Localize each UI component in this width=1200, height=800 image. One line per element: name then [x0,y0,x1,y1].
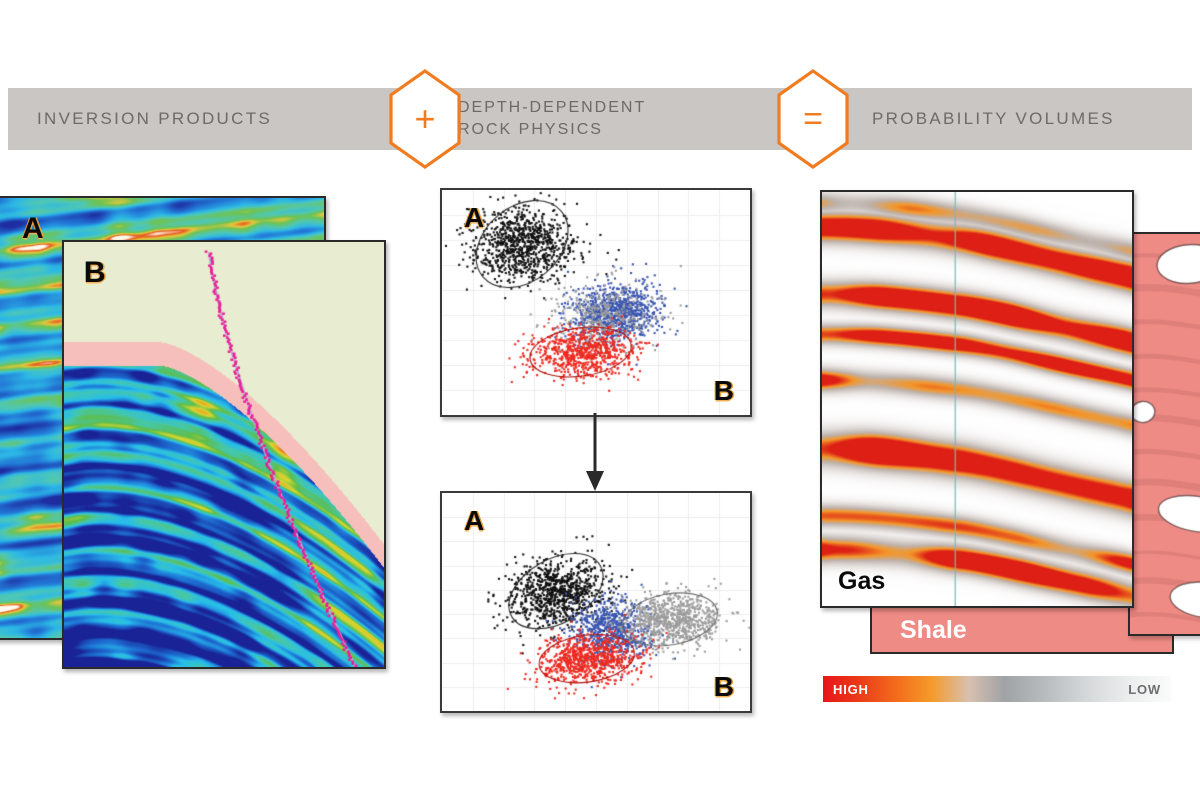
plus-glyph: + [388,69,462,169]
header-label-inversion-products: INVERSION PRODUCTS [8,108,272,131]
colorbar-label-low: LOW [1128,682,1171,697]
equals-glyph: = [776,69,850,169]
seismic-section-panel-b: B [62,240,386,669]
header-label-probability-volumes: PROBABILITY VOLUMES [822,108,1115,131]
shale-probability-map [1130,234,1200,634]
crossplot-top-axis-label-a: A [464,204,484,232]
shale-probability-panel [1128,232,1200,636]
crossplot-panel-top: A B [440,188,752,417]
probability-colorbar: HIGH LOW [823,676,1171,702]
crossplot-panel-bottom: A B [440,491,752,713]
crossplot-scatter-top [442,190,750,415]
crossplot-bottom-axis-label-b: B [714,673,734,701]
header-segment-inversion-products: INVERSION PRODUCTS [8,88,422,150]
equals-hexagon-icon: = [776,69,850,169]
seismic-colormap-b [64,242,384,667]
header-segment-probability-volumes: PROBABILITY VOLUMES [822,88,1192,150]
workflow-header-banner: INVERSION PRODUCTS DEPTH-DEPENDENT ROCK … [8,88,1192,150]
plus-hexagon-icon: + [388,69,462,169]
down-arrow-icon [583,413,607,493]
seismic-panel-label-a: A [22,214,44,244]
probability-volumes-figure: Shale Gas [815,190,1200,710]
probability-panel-label-gas: Gas [838,569,885,594]
gas-probability-map [822,192,1132,606]
crossplot-bottom-axis-label-a: A [464,507,484,535]
gas-probability-panel: Gas [820,190,1134,608]
rock-physics-crossplots: A B A B [430,188,760,713]
header-segment-rock-physics: DEPTH-DEPENDENT ROCK PHYSICS [432,88,812,150]
crossplot-top-axis-label-b: B [714,377,734,405]
crossplot-scatter-bottom [442,493,750,711]
probability-panel-label-shale: Shale [900,618,967,643]
colorbar-label-high: HIGH [823,682,869,697]
inversion-products-figure: A B [0,196,400,686]
seismic-panel-label-b: B [84,258,106,288]
header-label-rock-physics: DEPTH-DEPENDENT ROCK PHYSICS [432,97,646,140]
